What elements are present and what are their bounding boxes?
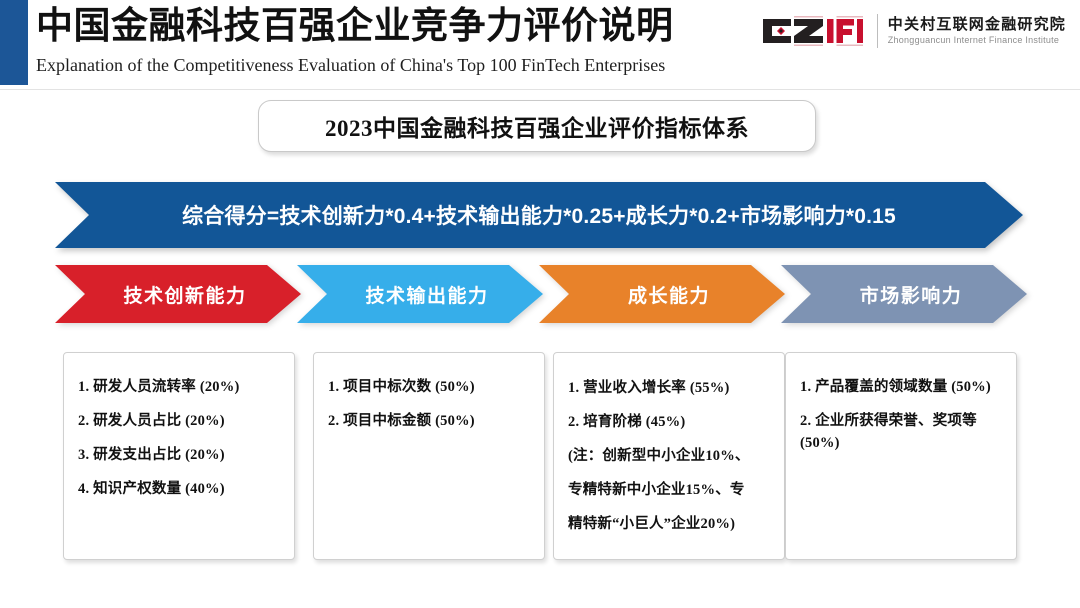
indicator-item: 1. 项目中标次数 (50%): [328, 377, 532, 397]
indicator-item: 2. 培育阶梯 (45%): [568, 411, 772, 434]
indicator-item: 2. 研发人员占比 (20%): [78, 411, 282, 431]
czifi-logo-icon: [761, 15, 865, 47]
pillar-growth[interactable]: 成长能力: [539, 265, 785, 323]
indicator-note: 精特新“小巨人”企业20%): [568, 513, 772, 536]
indicator-card-growth: 1. 营业收入增长率 (55%) 2. 培育阶梯 (45%) (注：创新型中小企…: [553, 352, 785, 560]
score-formula-banner: 综合得分=技术创新力*0.4+技术输出能力*0.25+成长力*0.2+市场影响力…: [55, 182, 1023, 248]
indicator-item: 4. 知识产权数量 (40%): [78, 479, 282, 499]
header-divider: [0, 89, 1080, 90]
pillar-tech-innovation[interactable]: 技术创新能力: [55, 265, 301, 323]
indicator-item-continuation: (50%): [800, 433, 1004, 453]
indicator-system-title-box: 2023中国金融科技百强企业评价指标体系: [258, 100, 816, 152]
header-title-group: 中国金融科技百强企业竞争力评价说明 Explanation of the Com…: [36, 2, 736, 78]
indicator-note: 专精特新中小企业15%、专: [568, 479, 772, 502]
indicator-item: 2. 项目中标金额 (50%): [328, 411, 532, 431]
indicator-card-tech-innovation: 1. 研发人员流转率 (20%) 2. 研发人员占比 (20%) 3. 研发支出…: [63, 352, 295, 560]
logo-divider: [877, 14, 878, 48]
page-title: 中国金融科技百强企业竞争力评价说明: [36, 2, 736, 52]
indicator-card-tech-output: 1. 项目中标次数 (50%) 2. 项目中标金额 (50%): [313, 352, 545, 560]
indicator-item: 2. 企业所获得荣誉、奖项等: [800, 411, 1004, 431]
indicator-cards-row: 1. 研发人员流转率 (20%) 2. 研发人员占比 (20%) 3. 研发支出…: [55, 352, 1025, 564]
header-accent-bar: [0, 0, 28, 85]
pillar-label: 技术输出能力: [297, 265, 543, 323]
indicator-card-market-influence: 1. 产品覆盖的领域数量 (50%) 2. 企业所获得荣誉、奖项等 (50%): [785, 352, 1017, 560]
pillar-chevron-row: 技术创新能力 技术输出能力 成长能力 市场影响力: [55, 265, 1025, 323]
page-header: 中国金融科技百强企业竞争力评价说明 Explanation of the Com…: [0, 0, 1080, 90]
indicator-item: 1. 研发人员流转率 (20%): [78, 377, 282, 397]
logo-text-block: 中关村互联网金融研究院 Zhongguancun Internet Financ…: [888, 16, 1066, 47]
pillar-tech-output[interactable]: 技术输出能力: [297, 265, 543, 323]
logo-name-cn: 中关村互联网金融研究院: [888, 16, 1066, 34]
pillar-market-influence[interactable]: 市场影响力: [781, 265, 1027, 323]
page-subtitle: Explanation of the Competitiveness Evalu…: [36, 52, 736, 78]
pillar-label: 技术创新能力: [55, 265, 301, 323]
institute-logo: 中关村互联网金融研究院 Zhongguancun Internet Financ…: [761, 8, 1066, 54]
pillar-label: 成长能力: [539, 265, 785, 323]
indicator-note: (注：创新型中小企业10%、: [568, 445, 772, 468]
indicator-item: 1. 产品覆盖的领域数量 (50%): [800, 377, 1004, 397]
indicator-item: 1. 营业收入增长率 (55%): [568, 377, 772, 400]
indicator-system-title: 2023中国金融科技百强企业评价指标体系: [325, 109, 749, 143]
indicator-item: 3. 研发支出占比 (20%): [78, 445, 282, 465]
pillar-label: 市场影响力: [781, 265, 1027, 323]
logo-name-en: Zhongguancun Internet Finance Institute: [888, 34, 1066, 47]
score-formula-text: 综合得分=技术创新力*0.4+技术输出能力*0.25+成长力*0.2+市场影响力…: [55, 182, 1023, 248]
